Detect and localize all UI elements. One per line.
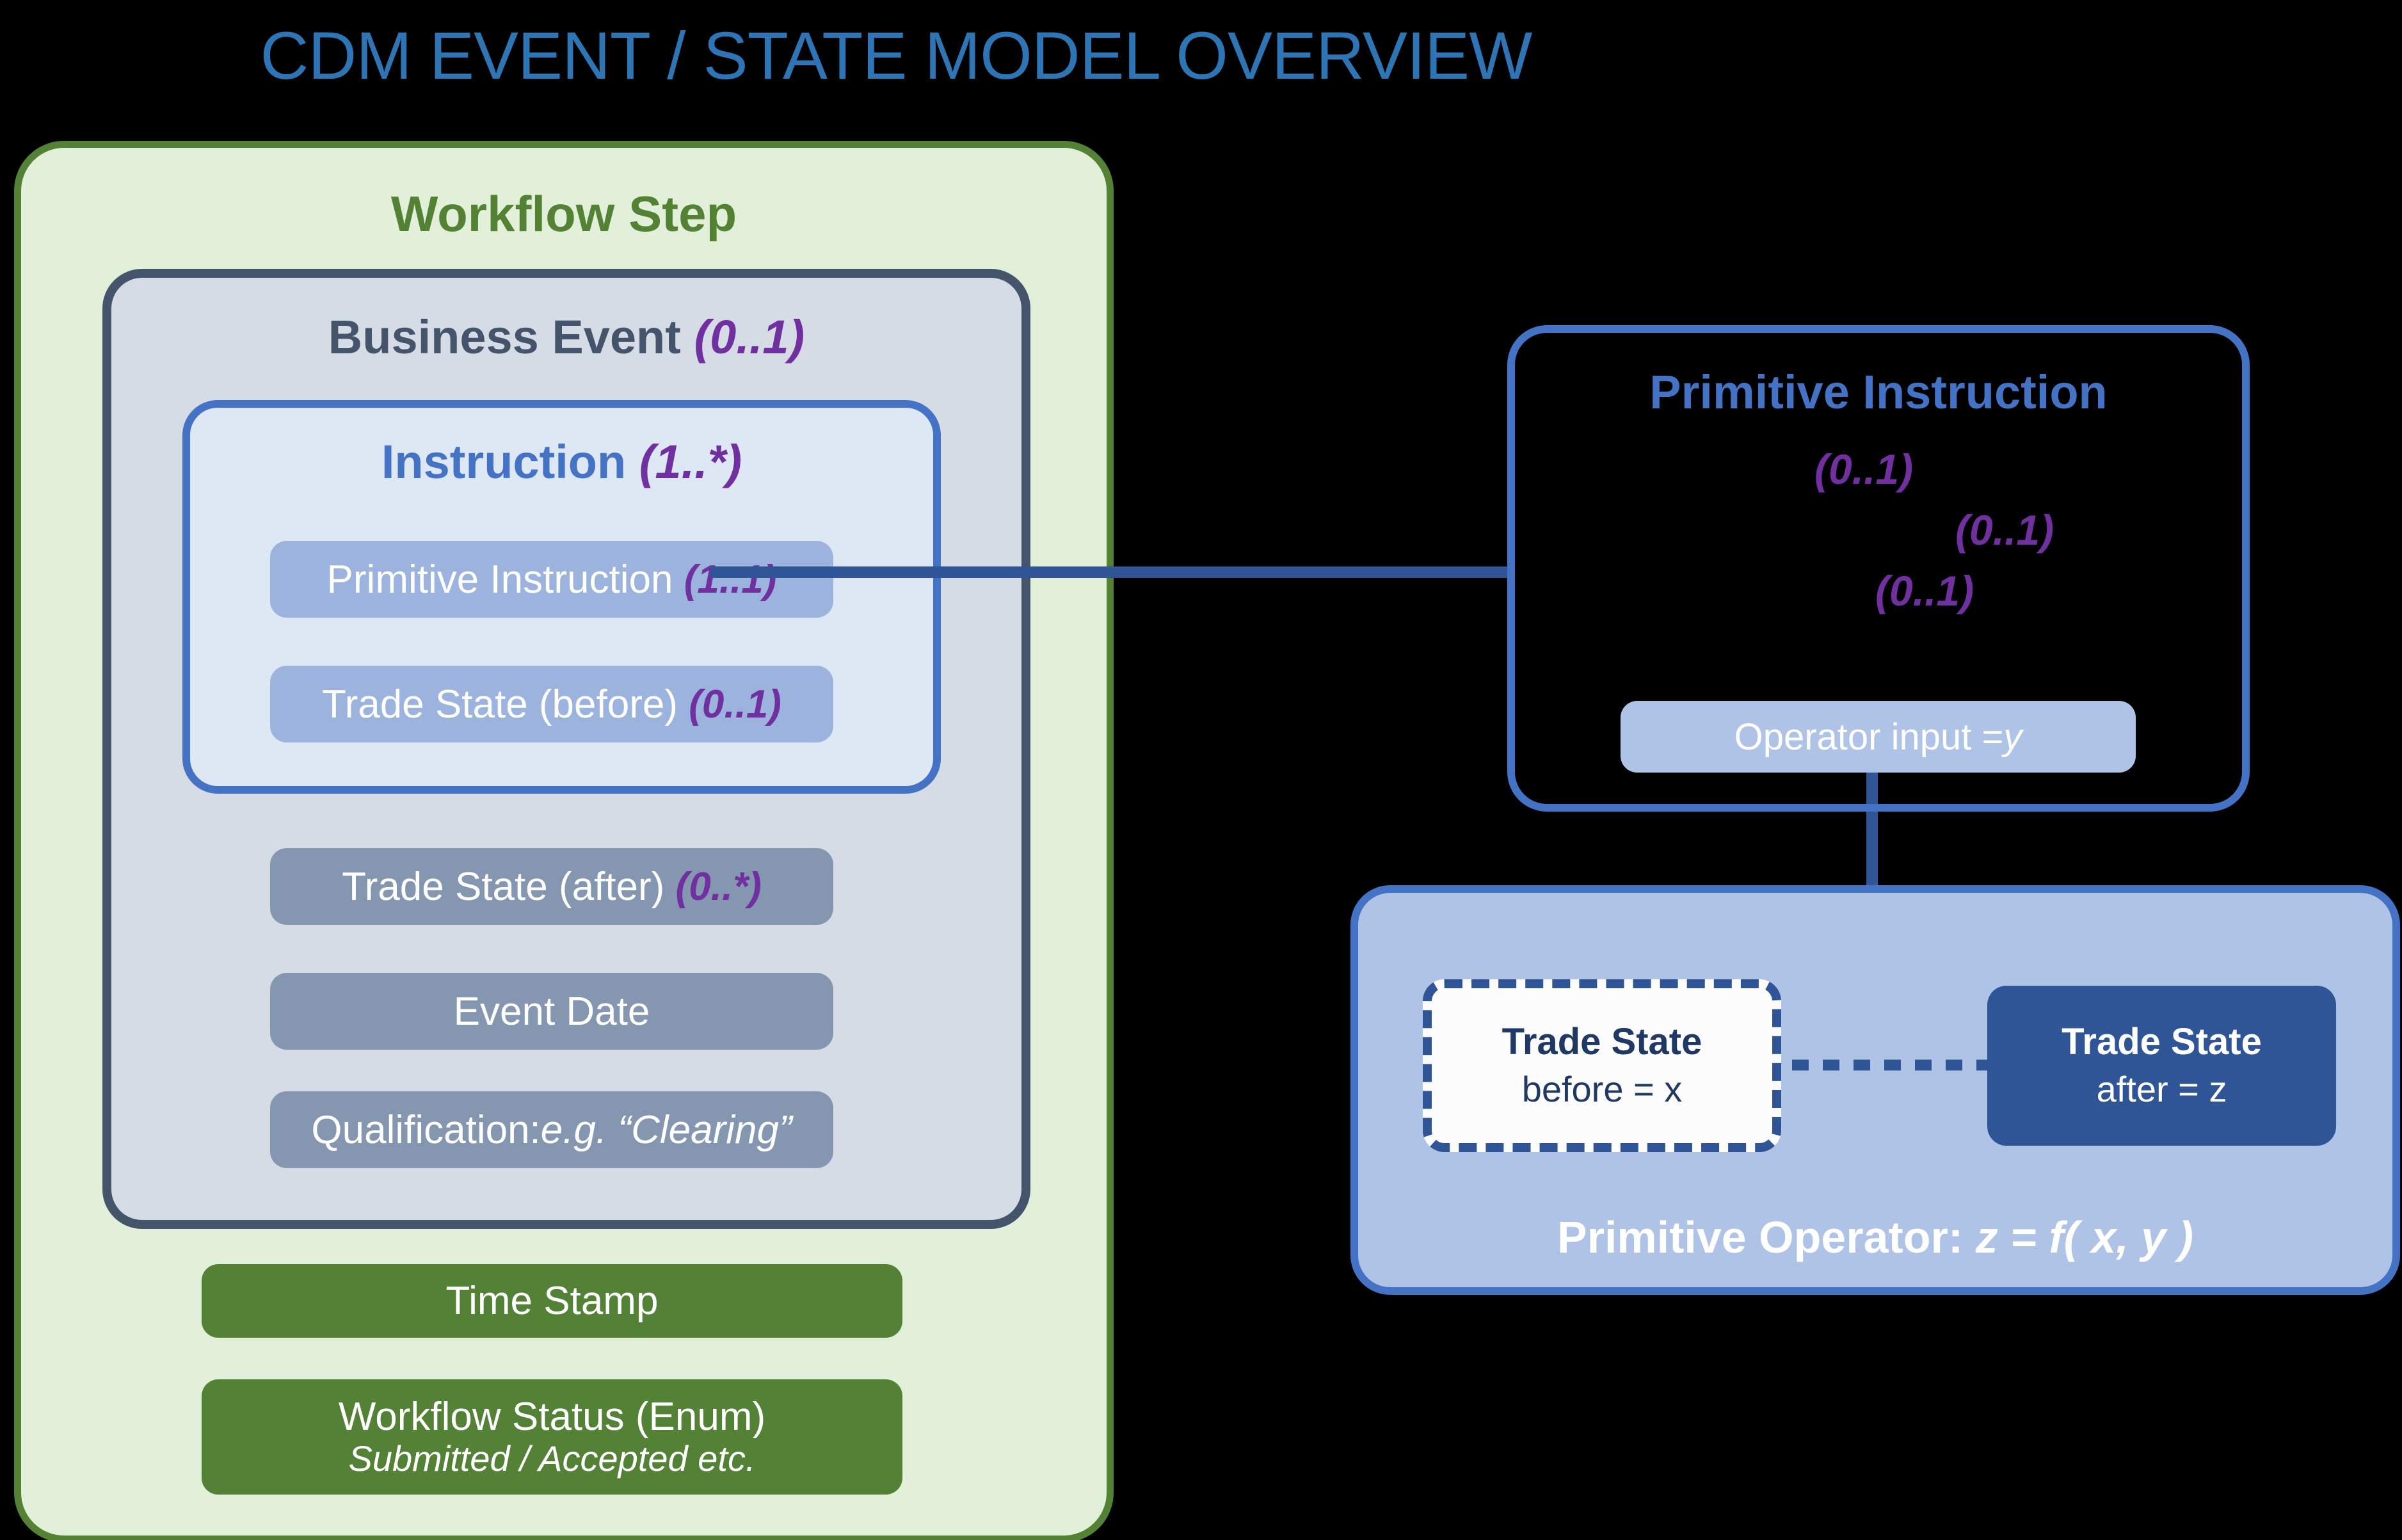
page-title: CDM EVENT / STATE MODEL OVERVIEW <box>0 18 1792 95</box>
primitive-operator-formula: z = f( x, y ) <box>1976 1212 2193 1262</box>
attribute-operator-input[interactable]: Operator input = y <box>1621 701 2136 773</box>
instruction-label: Instruction <box>381 435 626 488</box>
attribute-event-date-label: Event Date <box>454 989 650 1034</box>
trade-state-before-value: before = x <box>1522 1068 1683 1111</box>
business-event-heading: Business Event (0..1) <box>111 310 1021 364</box>
business-event-label: Business Event <box>328 310 681 364</box>
primitive-operator-heading: Primitive Operator: z = f( x, y ) <box>1358 1212 2392 1263</box>
attribute-trade-state-after[interactable]: Trade State (after) (0..*) <box>270 848 833 925</box>
attribute-qualification-example: e.g. “Clearing” <box>541 1107 792 1153</box>
business-event-cardinality: (0..1) <box>694 310 805 364</box>
primitive-instruction-cardinality-1: (0..1) <box>1814 445 1913 493</box>
instruction-heading: Instruction (1..*) <box>190 435 933 489</box>
attribute-workflow-status-label: Workflow Status (Enum) <box>339 1395 765 1439</box>
diagram-canvas: CDM EVENT / STATE MODEL OVERVIEW Workflo… <box>0 0 2402 1540</box>
trade-state-after-value: after = z <box>2097 1068 2227 1111</box>
attribute-event-date[interactable]: Event Date <box>270 973 833 1050</box>
primitive-instruction-cardinality-3: (0..1) <box>1875 566 1974 615</box>
attribute-qualification[interactable]: Qualification: e.g. “Clearing” <box>270 1091 833 1168</box>
attribute-primitive-instruction-cardinality: (1..1) <box>684 557 777 602</box>
attribute-primitive-instruction-label: Primitive Instruction <box>327 557 673 602</box>
primitive-instruction-cardinality-2: (0..1) <box>1955 506 2054 554</box>
trade-state-before-box[interactable]: Trade State before = x <box>1423 979 1781 1152</box>
attribute-workflow-status-values: Submitted / Accepted etc. <box>348 1439 755 1479</box>
connector-instruction-to-primitive <box>710 566 1512 578</box>
transition-arrow-icon <box>1792 1056 2093 1074</box>
attribute-time-stamp-label: Time Stamp <box>446 1278 659 1324</box>
attribute-workflow-status[interactable]: Workflow Status (Enum) Submitted / Accep… <box>202 1379 902 1495</box>
attribute-trade-state-after-cardinality: (0..*) <box>676 864 762 910</box>
attribute-trade-state-before-cardinality: (0..1) <box>689 682 781 727</box>
trade-state-before-title: Trade State <box>1502 1021 1702 1064</box>
attribute-primitive-instruction[interactable]: Primitive Instruction (1..1) <box>270 541 833 618</box>
attribute-trade-state-before-label: Trade State (before) <box>322 682 678 727</box>
primitive-instruction-heading: Primitive Instruction <box>1515 365 2242 419</box>
primitive-operator-separator: : <box>1948 1212 1976 1262</box>
attribute-operator-input-label: Operator input = <box>1734 716 2004 758</box>
attribute-qualification-label: Qualification: <box>311 1107 540 1153</box>
attribute-trade-state-before[interactable]: Trade State (before) (0..1) <box>270 666 833 742</box>
attribute-operator-input-variable: y <box>2003 716 2022 758</box>
primitive-operator-label: Primitive Operator <box>1557 1212 1948 1262</box>
attribute-time-stamp[interactable]: Time Stamp <box>202 1264 902 1338</box>
instruction-cardinality: (1..*) <box>639 435 742 488</box>
attribute-trade-state-after-label: Trade State (after) <box>342 864 664 910</box>
workflow-step-heading: Workflow Step <box>21 185 1107 243</box>
